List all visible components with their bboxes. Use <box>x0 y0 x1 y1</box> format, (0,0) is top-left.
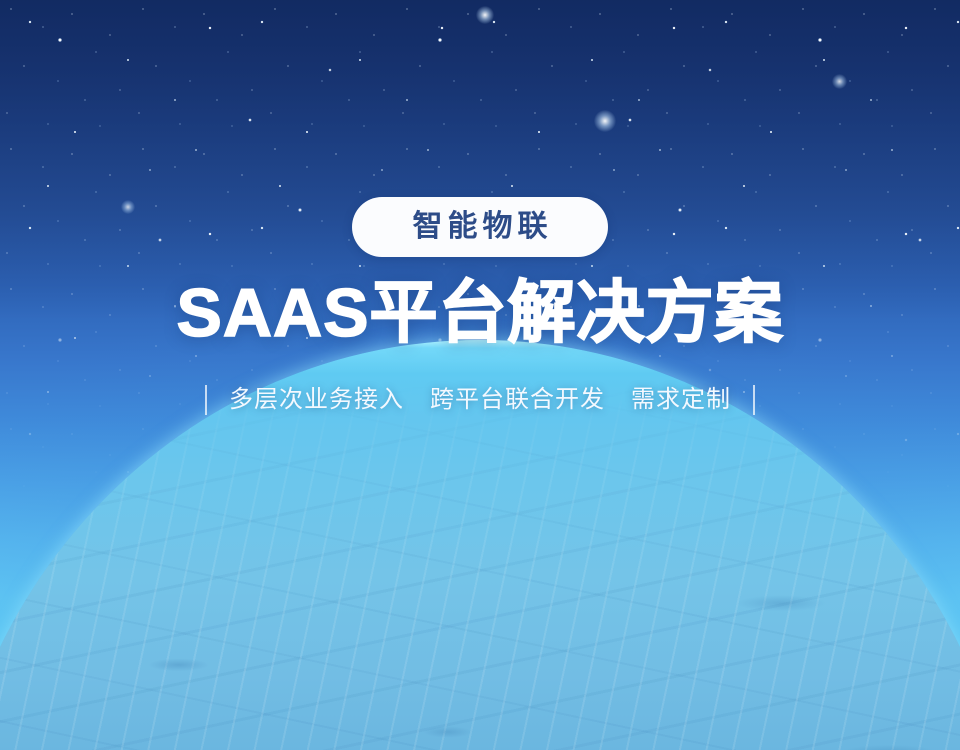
divider-right <box>753 385 755 415</box>
hero-banner: 智能物联 SAAS平台解决方案 多层次业务接入 跨平台联合开发 需求定制 <box>0 0 960 750</box>
banner-content: 智能物联 SAAS平台解决方案 多层次业务接入 跨平台联合开发 需求定制 <box>0 0 960 750</box>
category-badge: 智能物联 <box>352 197 608 257</box>
feature-item-1: 多层次业务接入 <box>229 388 404 412</box>
feature-item-3: 需求定制 <box>631 388 731 412</box>
page-title: SAAS平台解决方案 <box>177 277 784 349</box>
category-badge-label: 智能物联 <box>408 212 553 242</box>
feature-item-2: 跨平台联合开发 <box>430 388 605 412</box>
divider-left <box>205 385 207 415</box>
feature-list: 多层次业务接入 跨平台联合开发 需求定制 <box>205 385 755 415</box>
